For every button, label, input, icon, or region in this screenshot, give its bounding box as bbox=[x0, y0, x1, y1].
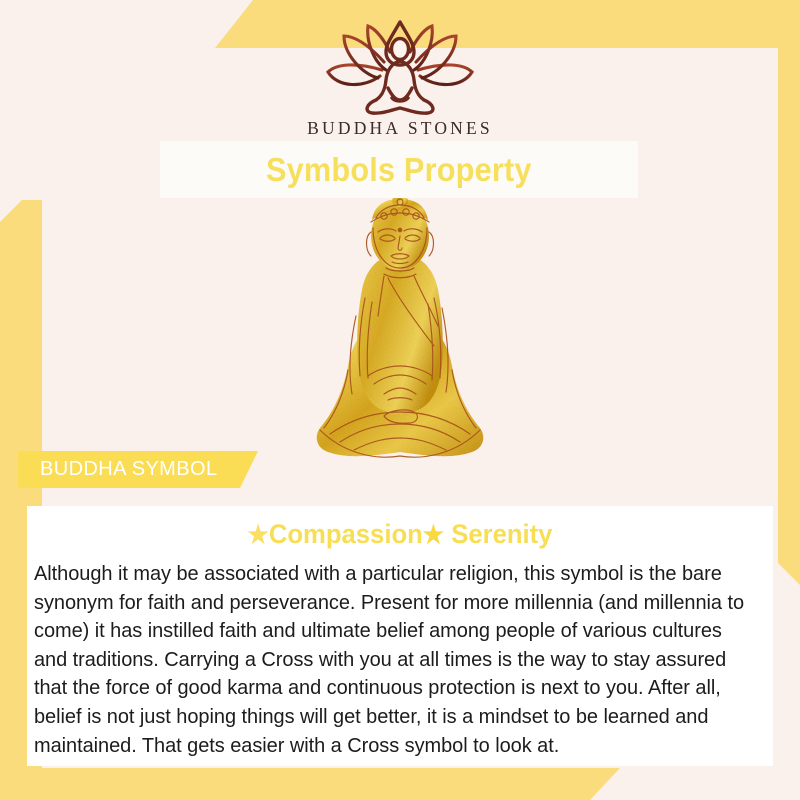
poster-root: BUDDHA STONES Symbols Property bbox=[0, 0, 800, 800]
subtitle-compassion: Compassion bbox=[269, 519, 423, 549]
ribbon-label: BUDDHA SYMBOL bbox=[18, 458, 217, 481]
buddha-symbol-ribbon: BUDDHA SYMBOL bbox=[18, 451, 258, 488]
decor-bottom-bar bbox=[0, 768, 620, 800]
title-band: Symbols Property bbox=[160, 141, 638, 198]
content-panel: ★Compassion★ Serenity Although it may be… bbox=[27, 506, 773, 766]
star-icon-1: ★ bbox=[248, 521, 269, 549]
content-subtitle: ★Compassion★ Serenity bbox=[46, 519, 755, 550]
star-icon-2: ★ bbox=[423, 521, 444, 549]
subtitle-serenity: Serenity bbox=[444, 519, 552, 549]
seated-golden-buddha-statue-icon bbox=[310, 198, 490, 488]
lotus-meditation-logo-icon bbox=[316, 18, 484, 116]
brand-block: BUDDHA STONES bbox=[0, 18, 800, 139]
body-paragraph: Although it may be associated with a par… bbox=[34, 560, 754, 760]
hero-image-wrap bbox=[0, 198, 800, 493]
page-title: Symbols Property bbox=[266, 151, 532, 189]
brand-name: BUDDHA STONES bbox=[0, 118, 800, 139]
